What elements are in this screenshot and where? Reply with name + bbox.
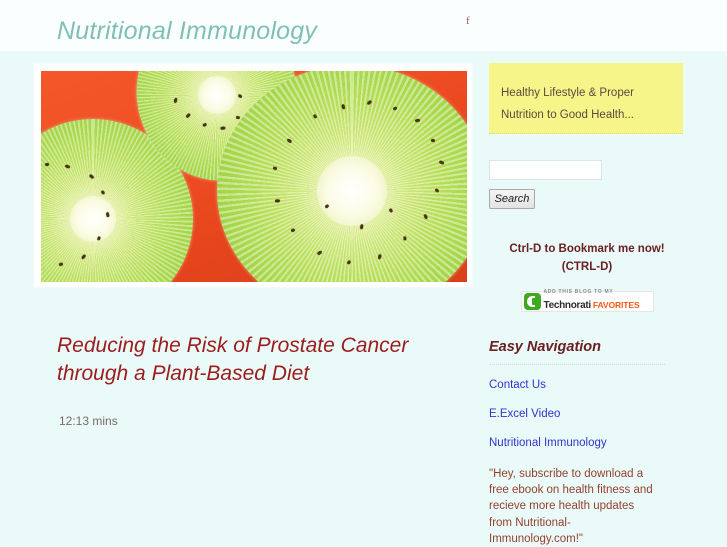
technorati-favorites-badge[interactable]: ADD THIS BLOG TO MY TechnoratiFAVORITES (521, 291, 654, 312)
technorati-tagline: ADD THIS BLOG TO MY (544, 290, 640, 295)
navigation-list: Contact Us E.Excel Video Nutritional Imm… (489, 379, 685, 449)
sidebar: Healthy Lifestyle & Proper Nutrition to … (489, 63, 685, 547)
subscribe-quote: "Hey, subscribe to download a free ebook… (489, 466, 659, 547)
bookmark-line-2: (CTRL-D) (489, 258, 685, 276)
search-form: Search (489, 160, 685, 209)
kiwi-slice-right (217, 71, 467, 282)
search-input[interactable] (489, 160, 602, 180)
nav-link-contact-us[interactable]: Contact Us (489, 379, 685, 391)
nav-link-nutritional-immunology[interactable]: Nutritional Immunology (489, 437, 685, 449)
technorati-name: Technorati (544, 300, 591, 311)
kiwi-fruit-photo (41, 71, 467, 282)
technorati-favorites-label: FAVORITES (593, 300, 640, 310)
bookmark-line-1: Ctrl-D to Bookmark me now! (489, 240, 685, 258)
search-button[interactable]: Search (489, 189, 535, 209)
navigation-divider (489, 364, 665, 365)
technorati-logo-icon (524, 293, 541, 310)
post-photo-frame (33, 63, 473, 288)
nav-link-eexcel-video[interactable]: E.Excel Video (489, 408, 685, 420)
promo-banner: Healthy Lifestyle & Proper Nutrition to … (489, 63, 683, 134)
page-title: Nutritional Immunology (57, 17, 317, 46)
navigation-heading: Easy Navigation (489, 339, 685, 355)
promo-line-1: Healthy Lifestyle & Proper (501, 82, 671, 104)
bookmark-prompt: Ctrl-D to Bookmark me now! (CTRL-D) (489, 240, 685, 277)
promo-line-2: Nutrition to Good Health... (501, 104, 671, 126)
kiwi-seeds (217, 71, 467, 282)
main-content-column: Reducing the Risk of Prostate Cancer thr… (33, 63, 488, 428)
post-timestamp: 12:13 mins (33, 414, 488, 428)
technorati-wordmark: TechnoratiFAVORITES (544, 296, 640, 312)
post-title[interactable]: Reducing the Risk of Prostate Cancer thr… (33, 332, 433, 388)
stray-glyph-text: f (466, 15, 470, 27)
technorati-badge-text: ADD THIS BLOG TO MY TechnoratiFAVORITES (544, 290, 640, 312)
